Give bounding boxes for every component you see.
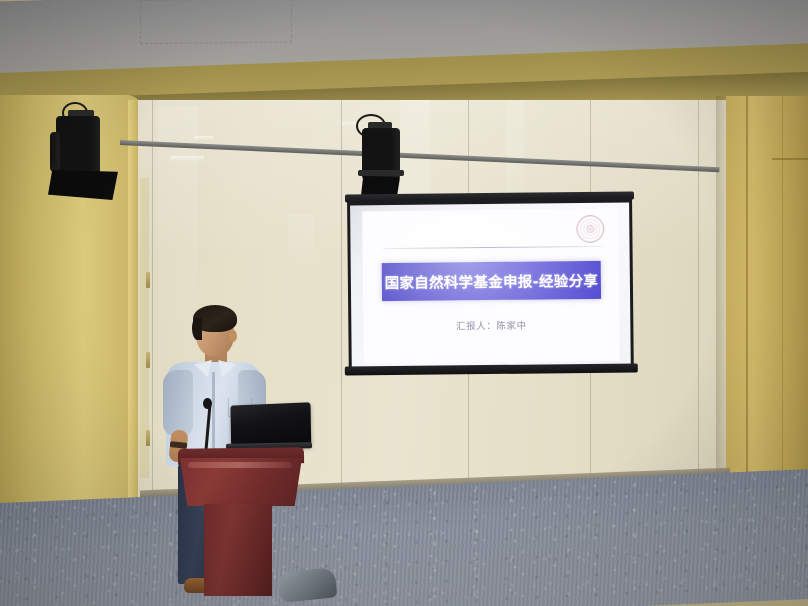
wall-panel-seam <box>698 100 699 478</box>
door-hinge <box>146 272 150 288</box>
light-yoke <box>50 132 60 172</box>
microphone-head[interactable] <box>203 398 212 409</box>
shirt-placket <box>212 372 215 456</box>
slide-title-bar: 国家自然科学基金申报-经验分享 <box>382 261 601 301</box>
wall-sheen <box>158 106 198 406</box>
slide-presenter-line: 汇报人：陈家中 <box>363 317 619 334</box>
laptop-screen[interactable] <box>230 402 311 446</box>
partition-seam <box>746 96 748 516</box>
door-hinge <box>146 430 150 446</box>
screen-frame: 国家自然科学基金申报-经验分享 汇报人：陈家中 <box>347 198 634 369</box>
light-barn-door <box>48 170 118 200</box>
wall-reflection <box>194 136 214 140</box>
projection-screen[interactable]: 国家自然科学基金申报-经验分享 汇报人：陈家中 <box>347 196 634 389</box>
presentation-slide: 国家自然科学基金申报-经验分享 汇报人：陈家中 <box>362 209 620 364</box>
light-body <box>56 116 100 178</box>
wall-panel-seam <box>341 100 342 485</box>
university-seal-logo <box>576 215 604 243</box>
partition-seam <box>772 158 808 160</box>
wall-reflection <box>170 156 204 161</box>
slide-title: 国家自然科学基金申报-经验分享 <box>385 269 599 292</box>
screen-weight-bar <box>345 363 638 375</box>
screen-surface: 国家自然科学基金申报-经验分享 汇报人：陈家中 <box>350 203 631 368</box>
partition-seam <box>782 96 783 516</box>
equipment-bag <box>279 567 338 603</box>
stage-light-left[interactable] <box>48 108 128 203</box>
right-partition-wall <box>726 96 808 516</box>
podium-column <box>204 504 272 596</box>
left-sleeve <box>163 370 193 436</box>
podium-highlight <box>188 462 292 468</box>
light-bracket <box>358 170 404 176</box>
wall-reflection <box>288 214 314 262</box>
presentation-room-photo: 国家自然科学基金申报-经验分享 汇报人：陈家中 <box>0 0 808 606</box>
wall-panel-seam <box>152 100 153 490</box>
slide-divider-line <box>383 246 603 249</box>
ear <box>229 330 237 342</box>
door-hinge <box>146 352 150 368</box>
ceiling-access-panel <box>140 0 292 44</box>
hair-sideburn <box>192 318 202 340</box>
